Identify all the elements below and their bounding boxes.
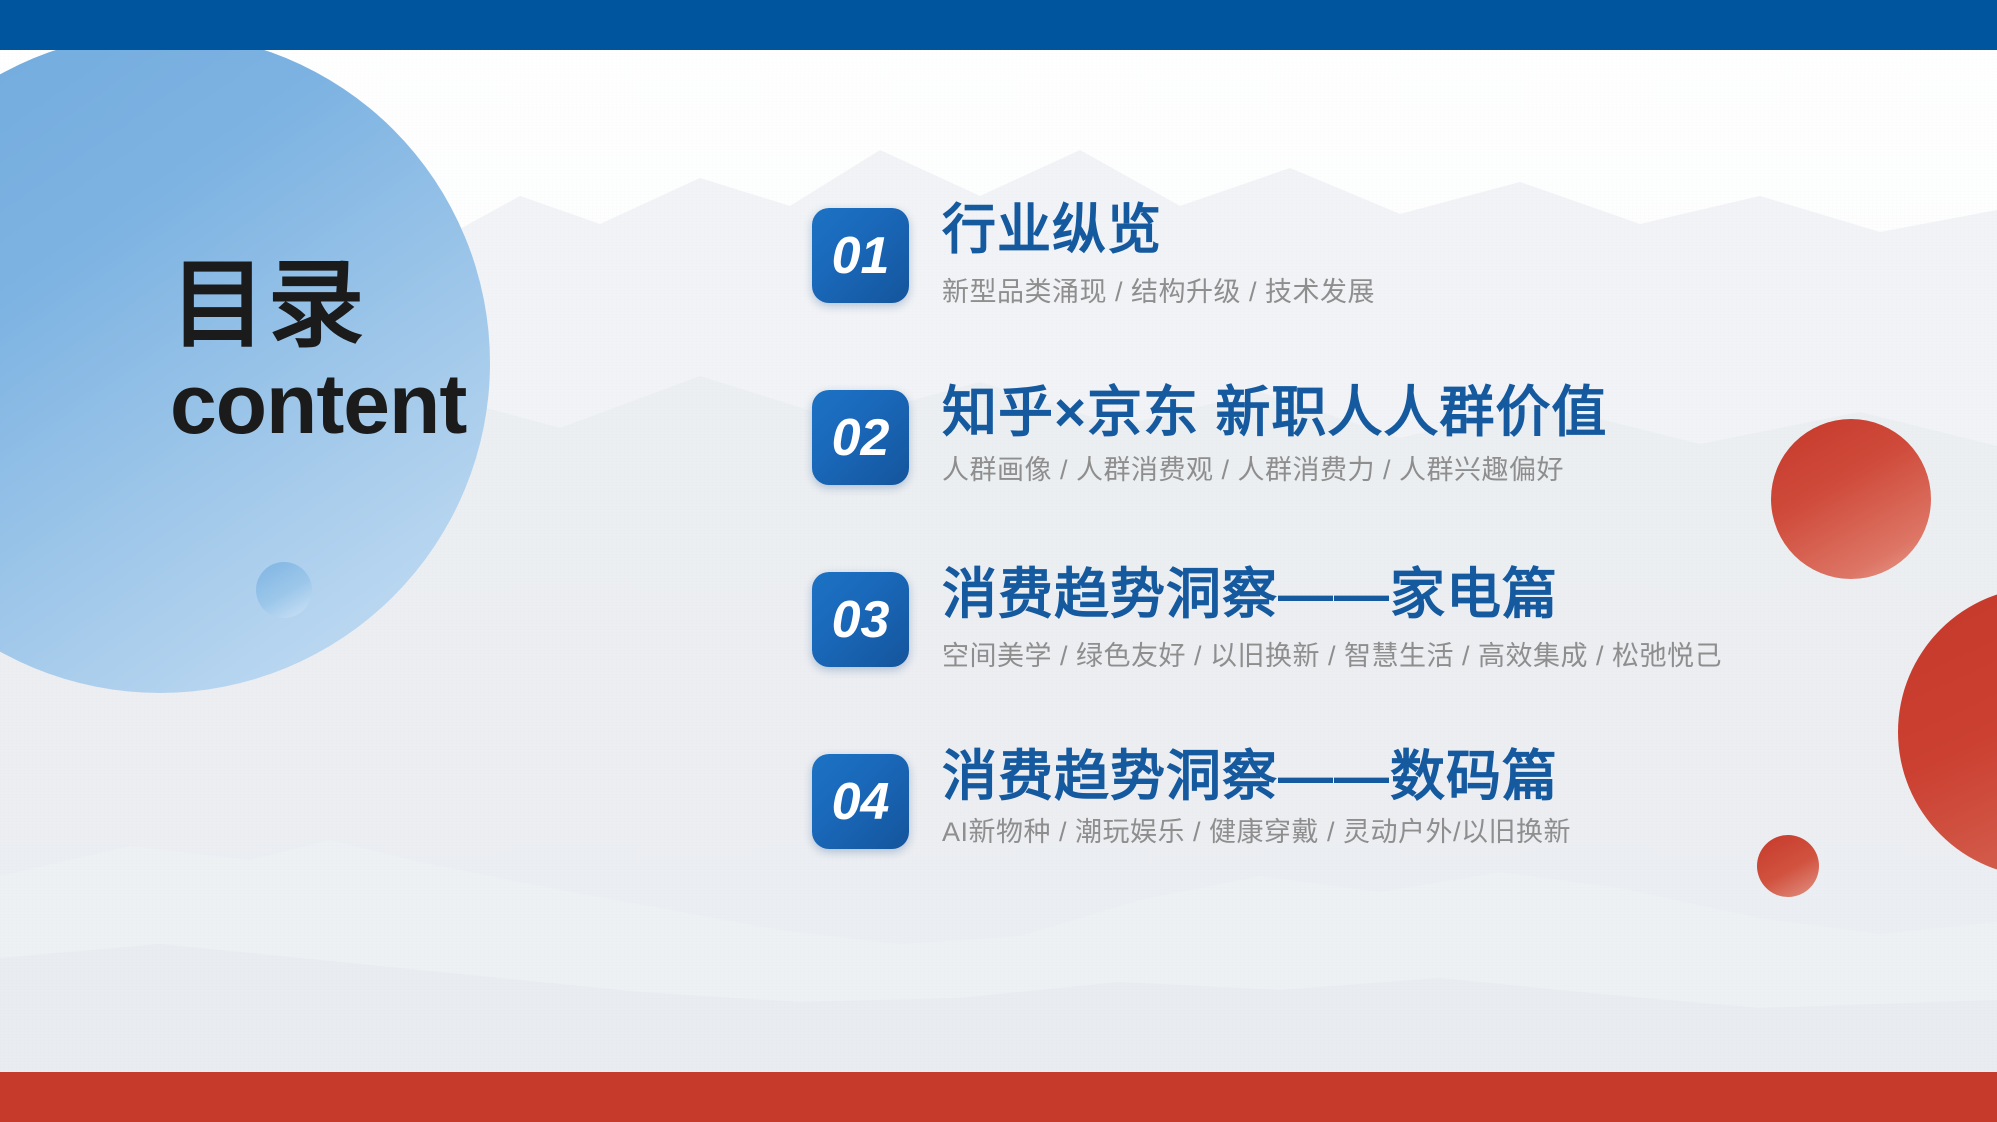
toc-entry-text-03: 消费趋势洞察——家电篇 空间美学 / 绿色友好 / 以旧换新 / 智慧生活 / … [942,564,1872,672]
toc-number-label: 01 [832,230,890,282]
toc-entry-title: 行业纵览 [942,200,1872,260]
toc-number-label: 04 [832,776,890,828]
toc-entry-text-01: 行业纵览 新型品类涌现 / 结构升级 / 技术发展 [942,200,1872,309]
top-accent-bar [0,0,1997,50]
toc-entry-subtitle: 新型品类涌现 / 结构升级 / 技术发展 [942,276,1872,308]
page-title: 目录 content [170,258,630,448]
page-title-en: content [170,360,630,448]
toc-entry-02[interactable]: 02 知乎×京东 新职人人群价值 人群画像 / 人群消费观 / 人群消费力 / … [812,382,1872,564]
toc-entry-01[interactable]: 01 行业纵览 新型品类涌现 / 结构升级 / 技术发展 [812,200,1872,382]
table-of-contents: 01 行业纵览 新型品类涌现 / 结构升级 / 技术发展 02 知乎×京东 新职… [812,200,1872,746]
toc-number-label: 02 [832,412,890,464]
toc-entry-subtitle: 空间美学 / 绿色友好 / 以旧换新 / 智慧生活 / 高效集成 / 松弛悦己 [942,640,1872,672]
toc-entry-title: 知乎×京东 新职人人群价值 [942,382,1872,444]
toc-entry-title: 消费趋势洞察——家电篇 [942,564,1872,626]
page-title-cn: 目录 [170,258,630,354]
slide-canvas: 目录 content 01 行业纵览 新型品类涌现 / 结构升级 / 技术发展 … [0,0,1997,1122]
bottom-accent-bar [0,1072,1997,1122]
toc-entry-subtitle: 人群画像 / 人群消费观 / 人群消费力 / 人群兴趣偏好 [942,454,1872,486]
toc-entry-title: 消费趋势洞察——数码篇 [942,746,1872,808]
toc-entry-text-02: 知乎×京东 新职人人群价值 人群画像 / 人群消费观 / 人群消费力 / 人群兴… [942,382,1872,486]
toc-number-badge-04: 04 [812,754,909,849]
toc-entry-03[interactable]: 03 消费趋势洞察——家电篇 空间美学 / 绿色友好 / 以旧换新 / 智慧生活… [812,564,1872,746]
toc-number-badge-02: 02 [812,390,909,485]
toc-entry-subtitle: AI新物种 / 潮玩娱乐 / 健康穿戴 / 灵动户外/以旧换新 [942,816,1872,848]
toc-entry-text-04: 消费趋势洞察——数码篇 AI新物种 / 潮玩娱乐 / 健康穿戴 / 灵动户外/以… [942,746,1872,848]
blue-gradient-dot [256,562,312,618]
toc-number-badge-03: 03 [812,572,909,667]
toc-number-badge-01: 01 [812,208,909,303]
toc-number-label: 03 [832,594,890,646]
